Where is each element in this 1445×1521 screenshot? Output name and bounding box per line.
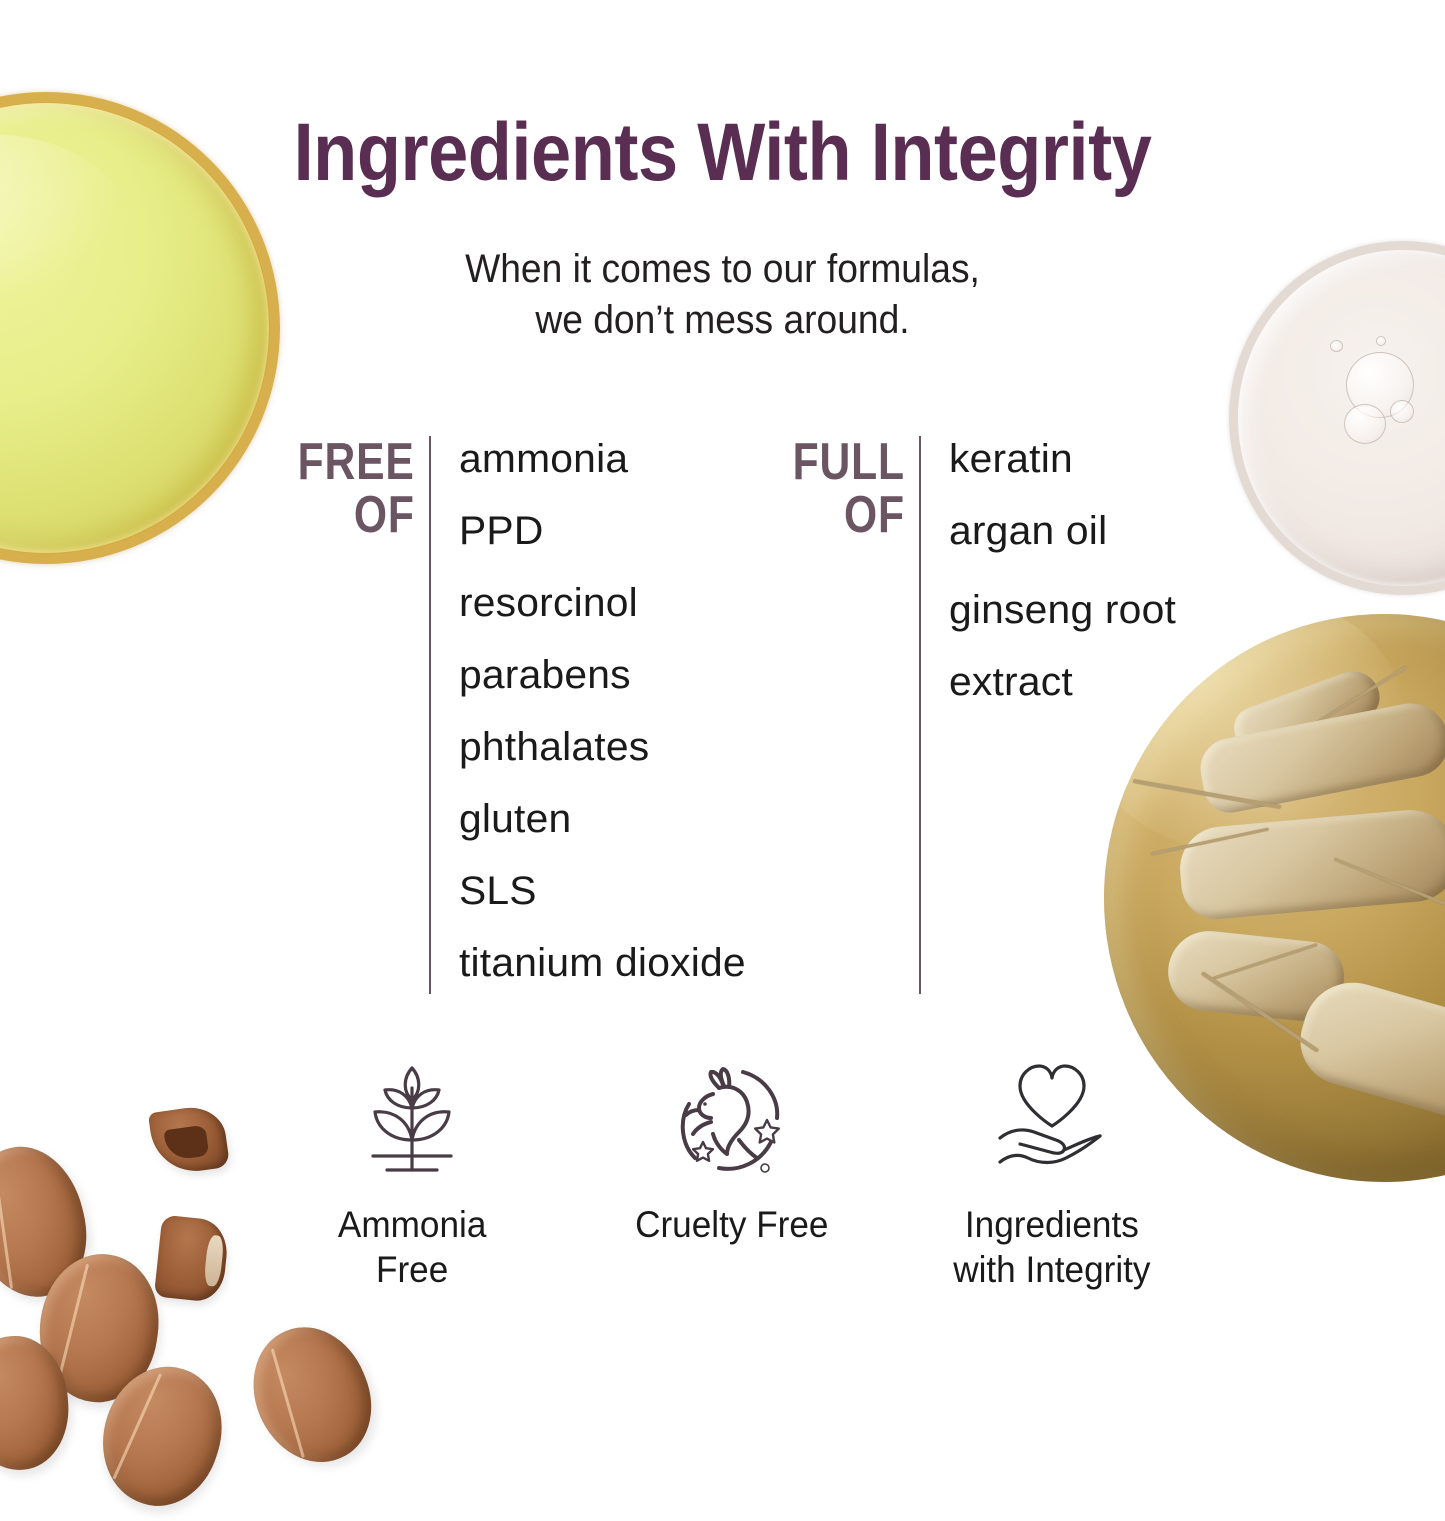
subtitle-line-1: When it comes to our formulas, bbox=[51, 244, 1395, 295]
list-item: ammonia bbox=[459, 430, 746, 502]
list-item: SLS bbox=[459, 862, 746, 934]
list-item: phthalates bbox=[459, 718, 746, 790]
sprout-plant-icon bbox=[349, 1058, 475, 1184]
list-item: titanium dioxide bbox=[459, 934, 746, 1006]
badge-cruelty-free: Cruelty Free bbox=[582, 1058, 882, 1247]
list-item: ginseng root extract bbox=[949, 574, 1255, 718]
badge-label: Ammonia Free bbox=[338, 1202, 486, 1292]
free-of-column: FREE OF ammonia PPD resorcinol parabens … bbox=[272, 428, 740, 998]
list-item: argan oil bbox=[949, 502, 1255, 574]
list-item: keratin bbox=[949, 430, 1255, 502]
ingredient-lists: FREE OF ammonia PPD resorcinol parabens … bbox=[0, 428, 1445, 1008]
free-of-item-list: ammonia PPD resorcinol parabens phthalat… bbox=[431, 428, 740, 998]
badge-ingredients-with-integrity: Ingredients with Integrity bbox=[902, 1058, 1202, 1292]
certification-badges: Ammonia Free bbox=[262, 1058, 1202, 1358]
leaping-bunny-icon bbox=[669, 1058, 795, 1184]
list-item: parabens bbox=[459, 646, 746, 718]
full-of-label: FULL OF bbox=[793, 428, 905, 998]
badge-label: Cruelty Free bbox=[635, 1202, 828, 1247]
heart-in-hand-icon bbox=[986, 1058, 1118, 1184]
full-of-item-list: keratin argan oil ginseng root extract bbox=[921, 428, 1249, 998]
badge-label: Ingredients with Integrity bbox=[953, 1202, 1150, 1292]
full-of-column: FULL OF keratin argan oil ginseng root e… bbox=[768, 428, 1249, 998]
subtitle-line-2: we don’t mess around. bbox=[51, 295, 1395, 346]
badge-ammonia-free: Ammonia Free bbox=[262, 1058, 562, 1292]
free-of-label: FREE OF bbox=[298, 428, 415, 998]
list-item: PPD bbox=[459, 502, 746, 574]
list-item: gluten bbox=[459, 790, 746, 862]
page-title: Ingredients With Integrity bbox=[87, 112, 1359, 194]
page-subtitle: When it comes to our formulas, we don’t … bbox=[51, 244, 1395, 346]
list-item: resorcinol bbox=[459, 574, 746, 646]
